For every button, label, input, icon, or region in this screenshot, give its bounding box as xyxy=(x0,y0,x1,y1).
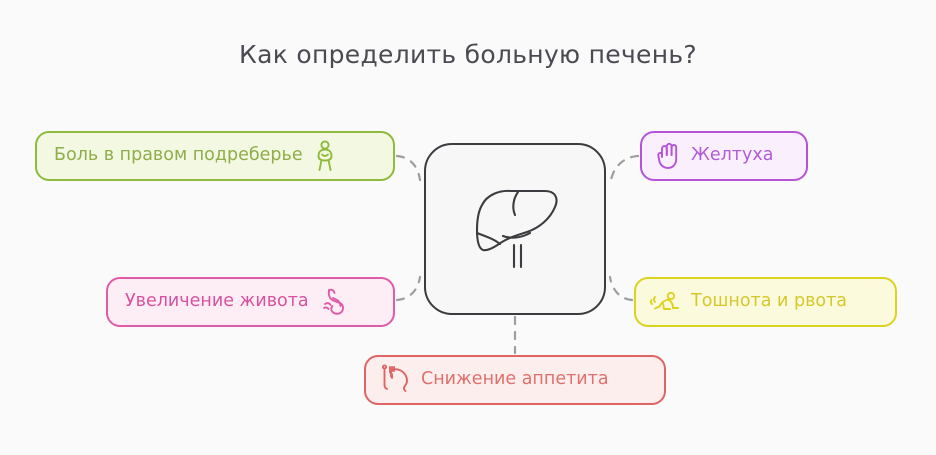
symptom-label-belly: Увеличение живота xyxy=(125,293,309,311)
connector-jaundice xyxy=(611,156,638,180)
hand-icon xyxy=(655,142,681,170)
infographic-canvas: Как определить больную печень? Боль в пр… xyxy=(0,0,936,455)
person-abdominal-pain-icon xyxy=(314,140,336,172)
symptom-pill-belly[interactable]: Увеличение живота xyxy=(106,277,395,327)
symptom-pill-nausea[interactable]: Тошнота и рвота xyxy=(634,277,897,327)
connector-belly xyxy=(397,277,420,300)
liver-icon xyxy=(463,181,567,277)
connector-nausea xyxy=(610,277,632,300)
vomiting-person-icon xyxy=(649,289,681,315)
symptom-pill-jaundice[interactable]: Желтуха xyxy=(640,131,808,181)
symptom-label-appetite: Снижение аппетита xyxy=(421,371,609,389)
symptom-label-jaundice: Желтуха xyxy=(691,147,773,165)
center-liver-card xyxy=(424,143,606,315)
symptom-label-pain: Боль в правом подреберье xyxy=(54,147,303,165)
page-title: Как определить больную печень? xyxy=(0,40,936,69)
symptom-label-nausea: Тошнота и рвота xyxy=(691,293,847,311)
symptom-pill-pain[interactable]: Боль в правом подреберье xyxy=(35,131,395,181)
stomach-icon xyxy=(320,287,348,317)
symptom-pill-appetite[interactable]: Снижение аппетита xyxy=(364,355,666,405)
connector-pain xyxy=(397,156,420,180)
head-cutlery-icon xyxy=(379,364,411,396)
